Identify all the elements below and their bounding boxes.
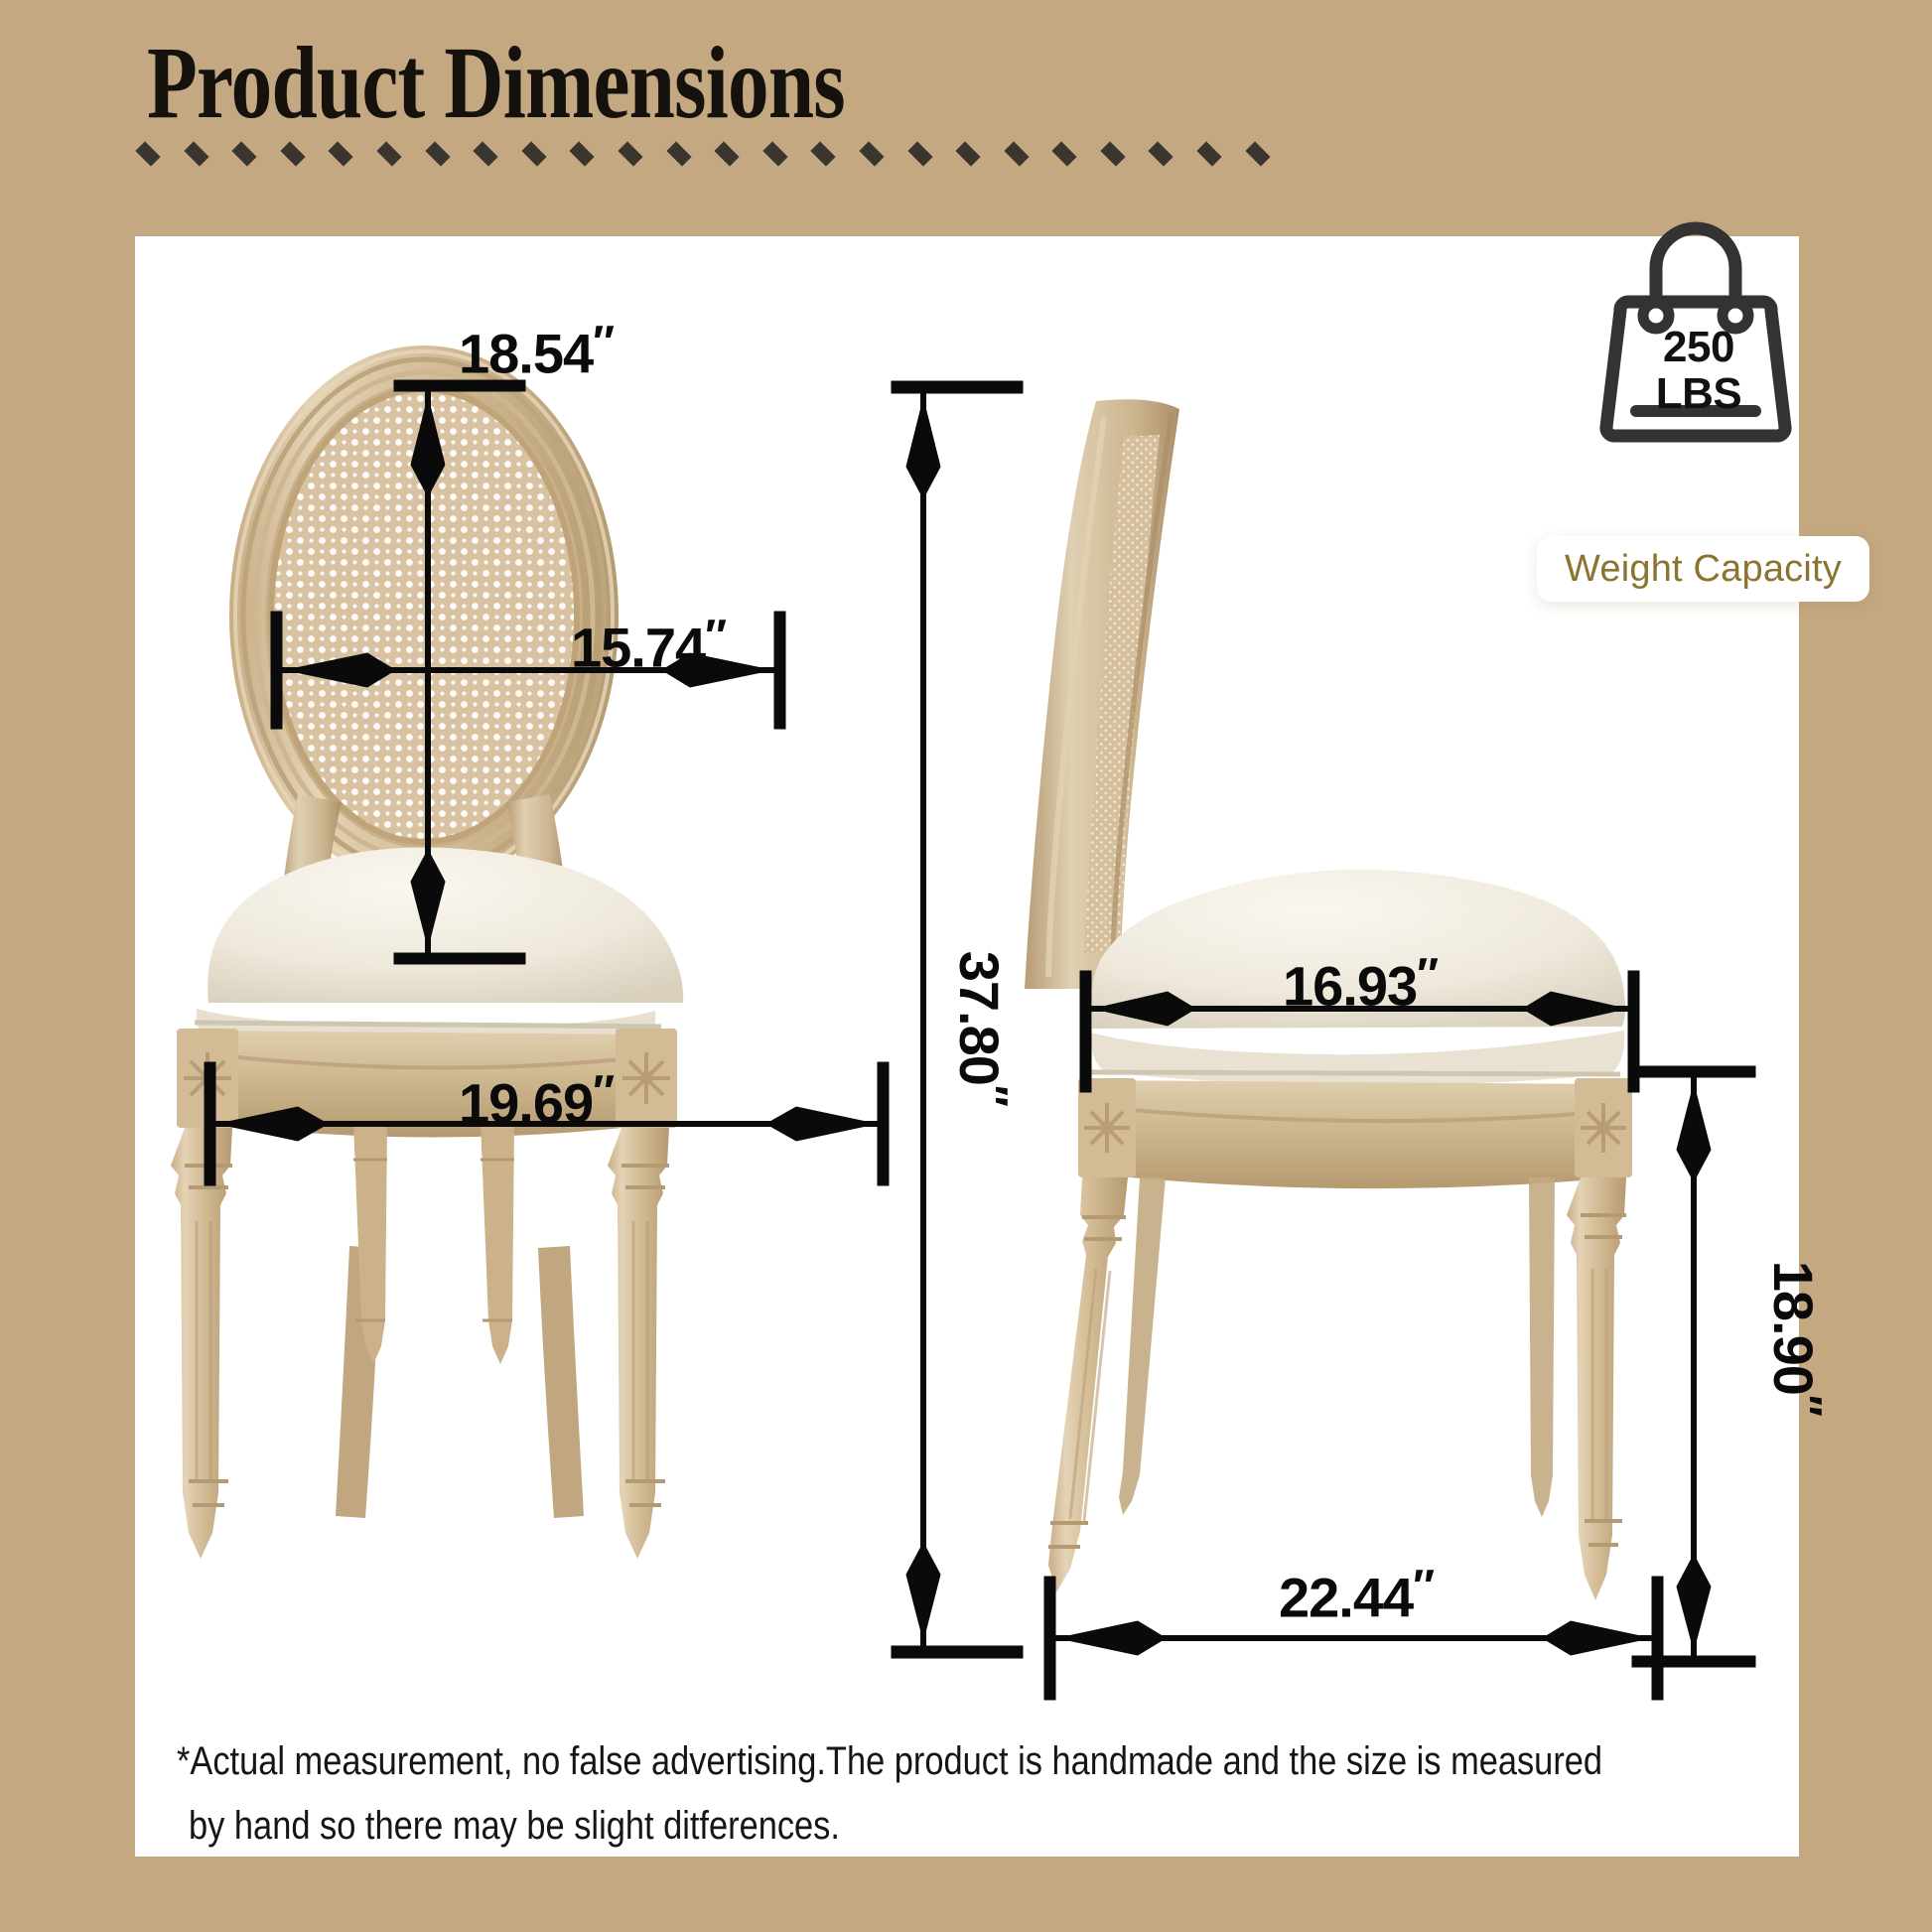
inch-mark: ″ (593, 316, 614, 367)
footnote-line-1: *Actual measurement, no false advertisin… (177, 1729, 1543, 1794)
weight-capacity-text: Weight Capacity (1565, 548, 1842, 591)
weight-capacity-label: Weight Capacity (1537, 536, 1869, 602)
inch-mark: ″ (1417, 948, 1438, 1000)
dimension-value: 16.93 (1283, 955, 1417, 1018)
infographic-root: Product Dimensions (0, 0, 1932, 1932)
weight-capacity-value: 250 LBS (1634, 324, 1763, 417)
inch-mark: ″ (1780, 1395, 1832, 1416)
dimension-value: 22.44 (1279, 1567, 1413, 1629)
dimension-value: 18.90 (1762, 1261, 1825, 1395)
weight-value: 250 (1634, 324, 1763, 370)
dimension-label-overall-depth: 22.44″ (1279, 1559, 1434, 1630)
weight-unit: LBS (1634, 370, 1763, 417)
dimension-value: 37.80 (948, 951, 1011, 1085)
dimension-value: 15.74 (571, 617, 705, 679)
dimension-label-seat-width: 19.69″ (459, 1064, 614, 1136)
dimension-label-seat-height: 18.90″ (1761, 1229, 1833, 1448)
dim-seat-height-line (1632, 1066, 1755, 1667)
dimension-value: 18.54 (459, 323, 593, 385)
footnote-line-2: by hand so there may be slight ditferenc… (177, 1794, 1543, 1859)
inch-mark: ″ (593, 1065, 614, 1117)
footnote: *Actual measurement, no false advertisin… (177, 1729, 1543, 1859)
inch-mark: ″ (705, 610, 726, 661)
inch-mark: ″ (966, 1085, 1018, 1106)
inch-mark: ″ (1413, 1560, 1434, 1611)
dimension-label-backrest-width: 15.74″ (571, 609, 726, 680)
dimension-value: 19.69 (459, 1072, 593, 1135)
dimension-label-seat-depth: 16.93″ (1283, 947, 1438, 1019)
dimension-label-overall-height: 37.80″ (947, 919, 1019, 1138)
dimension-label-backrest-height: 18.54″ (459, 315, 614, 386)
